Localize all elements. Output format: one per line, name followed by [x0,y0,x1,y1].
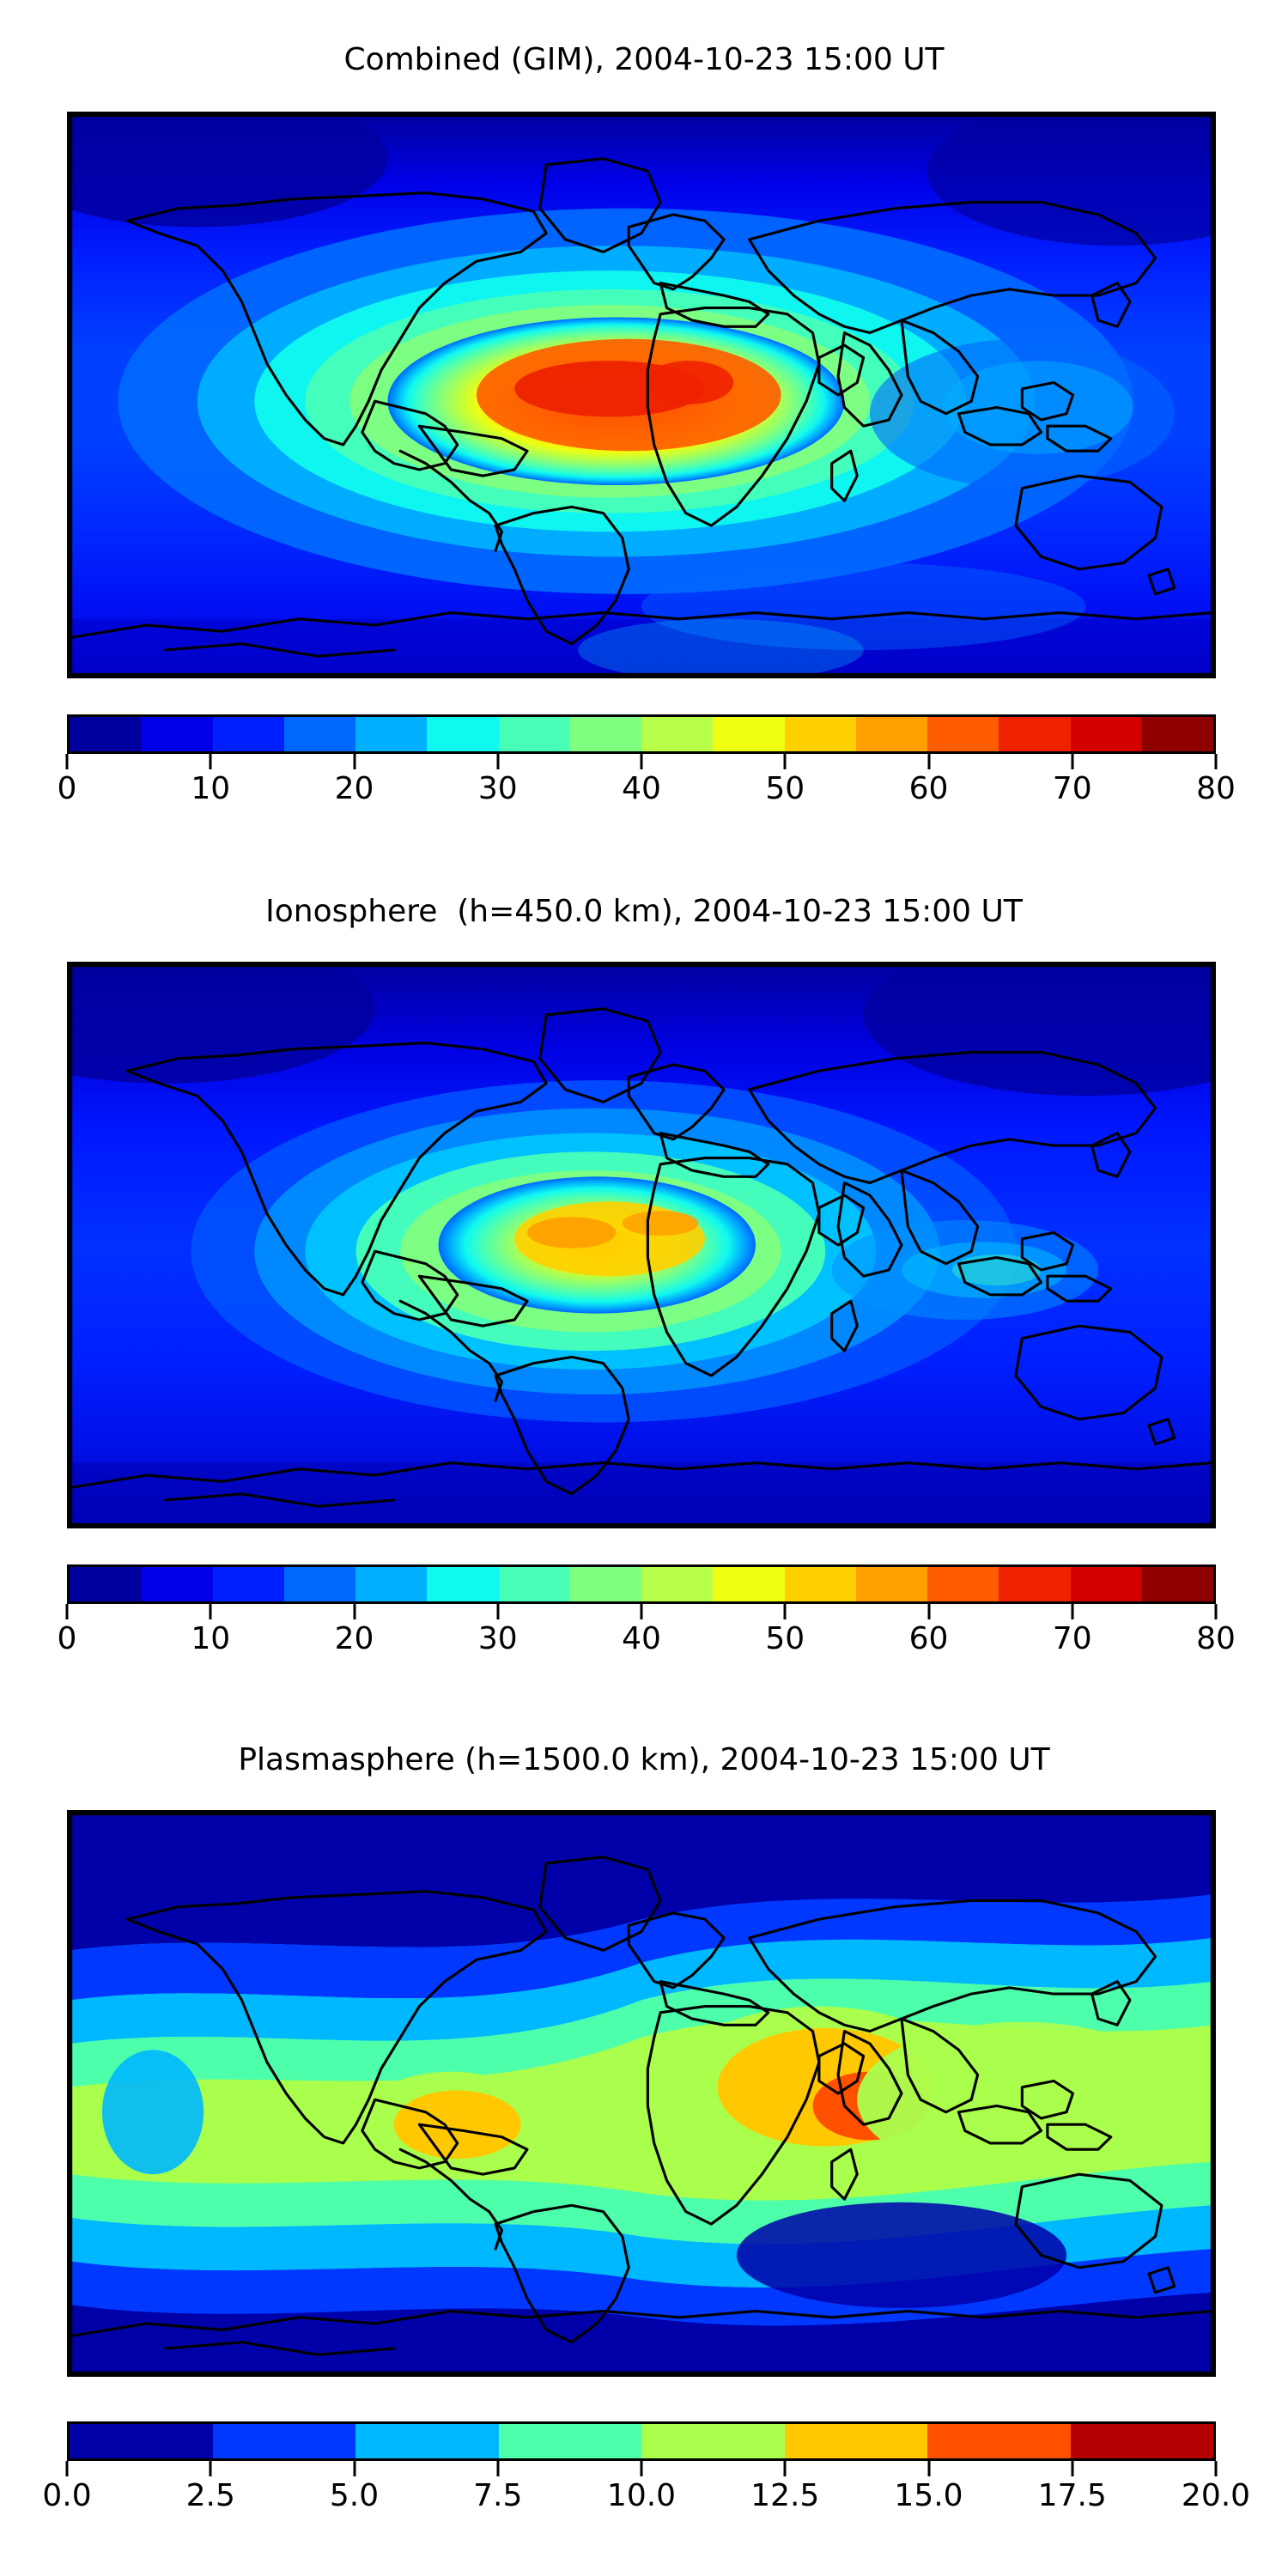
colorbar-segment-1 [141,717,212,751]
colorbar-tick-4 [641,754,643,769]
colorbar-tick-4 [641,1604,643,1619]
map-plasmasphere-svg [70,1814,1212,2373]
colorbar-tick-8 [1215,754,1218,769]
colorbar-combined-bar [67,714,1216,754]
colorbar-tick-label-2: 20 [335,1619,374,1659]
colorbar-segment-14 [1071,1567,1142,1601]
colorbar-tick-label-3: 30 [478,1619,518,1659]
colorbar-tick-0 [66,1604,69,1619]
colorbar-segment-13 [999,717,1070,751]
colorbar-tick-label-7: 70 [1053,1619,1092,1659]
colorbar-segment-10 [785,717,856,751]
colorbar-segment-14 [1071,717,1142,751]
panel-title-ionosphere: Ionosphere (h=450.0 km), 2004-10-23 15:0… [0,893,1288,931]
colorbar-segment-11 [856,717,927,751]
colorbar-segment-1 [213,2424,356,2458]
colorbar-segment-8 [641,1567,713,1601]
colorbar-segment-6 [499,717,570,751]
colorbar-ionosphere-ticks [67,1604,1216,1619]
colorbar-segment-4 [355,717,427,751]
colorbar-tick-label-6: 60 [909,769,949,809]
tec-map-figure: Combined (GIM), 2004-10-23 15:00 UT [0,0,1288,2576]
colorbar-tick-3 [496,2461,499,2476]
colorbar-tick-0 [66,2461,69,2476]
map-combined-svg [70,115,1212,675]
colorbar-tick-7 [1071,754,1073,769]
colorbar-combined-labels: 01020304050607080 [67,769,1216,809]
colorbar-segment-0 [70,2424,213,2458]
colorbar-tick-label-2: 20 [335,769,374,809]
map-ionosphere [67,962,1216,1528]
colorbar-segment-4 [641,2424,785,2458]
colorbar-tick-label-6: 15.0 [894,2476,963,2516]
colorbar-tick-2 [353,2461,355,2476]
colorbar-plasmasphere-labels: 0.02.55.07.510.012.515.017.520.0 [67,2476,1216,2516]
colorbar-plasmasphere-bar [67,2421,1216,2461]
colorbar-tick-label-1: 10 [191,769,230,809]
colorbar-segment-13 [999,1567,1070,1601]
colorbar-tick-label-5: 50 [765,769,805,809]
map-combined [67,112,1216,678]
colorbar-segment-5 [427,1567,498,1601]
colorbar-tick-label-7: 17.5 [1038,2476,1107,2516]
colorbar-plasmasphere-ticks [67,2461,1216,2476]
colorbar-tick-label-4: 10.0 [607,2476,676,2516]
colorbar-segment-5 [427,717,498,751]
colorbar-tick-6 [927,2461,930,2476]
colorbar-tick-4 [641,2461,643,2476]
colorbar-tick-label-0: 0 [58,1619,77,1659]
colorbar-tick-2 [353,1604,355,1619]
colorbar-segment-6 [927,2424,1071,2458]
colorbar-tick-8 [1215,1604,1218,1619]
colorbar-segment-2 [213,1567,284,1601]
colorbar-tick-label-1: 10 [191,1619,230,1659]
colorbar-ionosphere: 01020304050607080 [67,1564,1216,1659]
colorbar-tick-label-4: 40 [622,1619,661,1659]
colorbar-segment-2 [213,717,284,751]
colorbar-ionosphere-bar [67,1564,1216,1604]
colorbar-segment-12 [927,1567,999,1601]
colorbar-segment-3 [284,1567,355,1601]
colorbar-segment-0 [70,717,141,751]
colorbar-plasmasphere: 0.02.55.07.510.012.515.017.520.0 [67,2421,1216,2516]
colorbar-segment-1 [141,1567,212,1601]
colorbar-tick-1 [210,1604,212,1619]
colorbar-segment-5 [785,2424,928,2458]
colorbar-segment-12 [927,717,999,751]
colorbar-tick-label-0: 0 [58,769,77,809]
colorbar-segment-7 [570,717,641,751]
colorbar-tick-1 [210,754,212,769]
colorbar-tick-label-2: 5.0 [330,2476,379,2516]
colorbar-tick-label-3: 7.5 [473,2476,522,2516]
colorbar-segment-2 [355,2424,499,2458]
colorbar-segment-6 [499,1567,570,1601]
colorbar-segment-4 [355,1567,427,1601]
map-ionosphere-svg [70,965,1212,1525]
colorbar-tick-6 [927,1604,930,1619]
colorbar-tick-7 [1071,1604,1073,1619]
colorbar-tick-6 [927,754,930,769]
colorbar-tick-label-1: 2.5 [186,2476,235,2516]
colorbar-segment-10 [785,1567,856,1601]
colorbar-tick-5 [784,2461,787,2476]
colorbar-tick-3 [496,1604,499,1619]
colorbar-tick-label-8: 80 [1196,1619,1236,1659]
colorbar-tick-3 [496,754,499,769]
panel-title-plasmasphere: Plasmasphere (h=1500.0 km), 2004-10-23 1… [0,1741,1288,1779]
colorbar-tick-label-5: 50 [765,1619,805,1659]
colorbar-tick-label-0: 0.0 [42,2476,91,2516]
colorbar-tick-label-3: 30 [478,769,518,809]
colorbar-segment-3 [284,717,355,751]
colorbar-segment-11 [856,1567,927,1601]
colorbar-tick-8 [1215,2461,1218,2476]
colorbar-segment-3 [499,2424,642,2458]
colorbar-combined-ticks [67,754,1216,769]
colorbar-tick-label-5: 12.5 [750,2476,819,2516]
colorbar-segment-9 [713,717,784,751]
colorbar-tick-label-8: 20.0 [1182,2476,1250,2516]
colorbar-combined: 01020304050607080 [67,714,1216,809]
colorbar-segment-7 [1071,2424,1214,2458]
colorbar-tick-label-4: 40 [622,769,661,809]
colorbar-tick-5 [784,754,787,769]
colorbar-segment-8 [641,717,713,751]
colorbar-tick-5 [784,1604,787,1619]
colorbar-tick-0 [66,754,69,769]
panel-title-combined: Combined (GIM), 2004-10-23 15:00 UT [0,41,1288,79]
colorbar-tick-1 [210,2461,212,2476]
colorbar-tick-label-8: 80 [1196,769,1236,809]
colorbar-tick-label-6: 60 [909,1619,949,1659]
map-plasmasphere [67,1810,1216,2377]
colorbar-ionosphere-labels: 01020304050607080 [67,1619,1216,1659]
colorbar-segment-7 [570,1567,641,1601]
colorbar-tick-7 [1071,2461,1073,2476]
colorbar-segment-9 [713,1567,784,1601]
colorbar-tick-label-7: 70 [1053,769,1092,809]
colorbar-segment-15 [1142,717,1213,751]
colorbar-tick-2 [353,754,355,769]
colorbar-segment-15 [1142,1567,1213,1601]
colorbar-segment-0 [70,1567,141,1601]
